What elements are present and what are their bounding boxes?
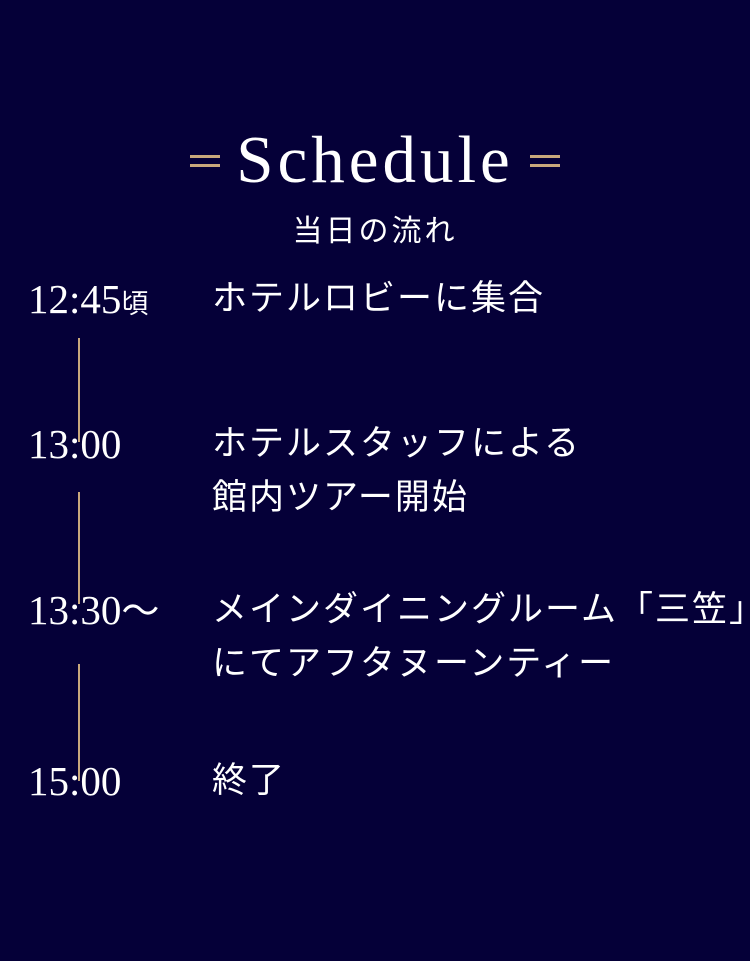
schedule-time-suffix: 頃 <box>121 289 148 319</box>
schedule-time-value: 13:30 <box>28 587 121 633</box>
schedule-time-value: 12:45 <box>28 276 121 322</box>
timeline-connector <box>78 338 80 442</box>
schedule-time-value: 15:00 <box>28 758 121 804</box>
page-subtitle: 当日の流れ <box>0 214 750 250</box>
schedule-description-line: 館内ツアー開始 <box>212 471 750 525</box>
schedule-time: 12:45頃 <box>28 272 184 331</box>
time-column: 15:00 <box>0 754 184 813</box>
schedule-row: 12:45頃 ホテルロビーに集合 <box>0 272 750 331</box>
time-column: 12:45頃 <box>0 272 184 331</box>
schedule-time: 13:30〜 <box>28 583 184 642</box>
description-column: メインダイニングルーム「三笠」 にてアフタヌーンティー <box>184 583 750 691</box>
schedule-time-value: 13:00 <box>28 421 121 467</box>
schedule-description-line: にてアフタヌーンティー <box>212 637 750 691</box>
schedule-time-tilde: 〜 <box>121 591 159 633</box>
schedule-description-line: ホテルロビーに集合 <box>212 272 750 326</box>
description-column: ホテルロビーに集合 <box>184 272 750 326</box>
left-ornament-icon <box>190 155 220 170</box>
schedule-description-line: メインダイニングルーム「三笠」 <box>212 583 750 637</box>
schedule-row: 13:30〜 メインダイニングルーム「三笠」 にてアフタヌーンティー <box>0 583 750 691</box>
page-title: Schedule <box>236 127 514 194</box>
schedule-time: 13:00 <box>28 417 184 476</box>
time-column: 13:00 <box>0 417 184 476</box>
schedule-description-line: 終了 <box>212 754 750 808</box>
title-row: Schedule <box>0 118 750 202</box>
schedule-row: 13:00 ホテルスタッフによる 館内ツアー開始 <box>0 417 750 525</box>
description-column: ホテルスタッフによる 館内ツアー開始 <box>184 417 750 525</box>
right-ornament-icon <box>530 155 560 170</box>
description-column: 終了 <box>184 754 750 808</box>
timeline-connector <box>78 664 80 781</box>
schedule-time: 15:00 <box>28 754 184 813</box>
schedule-row: 15:00 終了 <box>0 754 750 813</box>
page-header: Schedule 当日の流れ <box>0 118 750 250</box>
timeline-connector <box>78 492 80 604</box>
schedule-list: 12:45頃 ホテルロビーに集合 13:00 ホテルスタッフによる 館内ツアー開… <box>0 272 750 813</box>
schedule-page: Schedule 当日の流れ 12:45頃 ホテルロビーに集合 13:00 ホテ… <box>0 0 750 961</box>
time-column: 13:30〜 <box>0 583 184 642</box>
schedule-description-line: ホテルスタッフによる <box>212 417 750 471</box>
